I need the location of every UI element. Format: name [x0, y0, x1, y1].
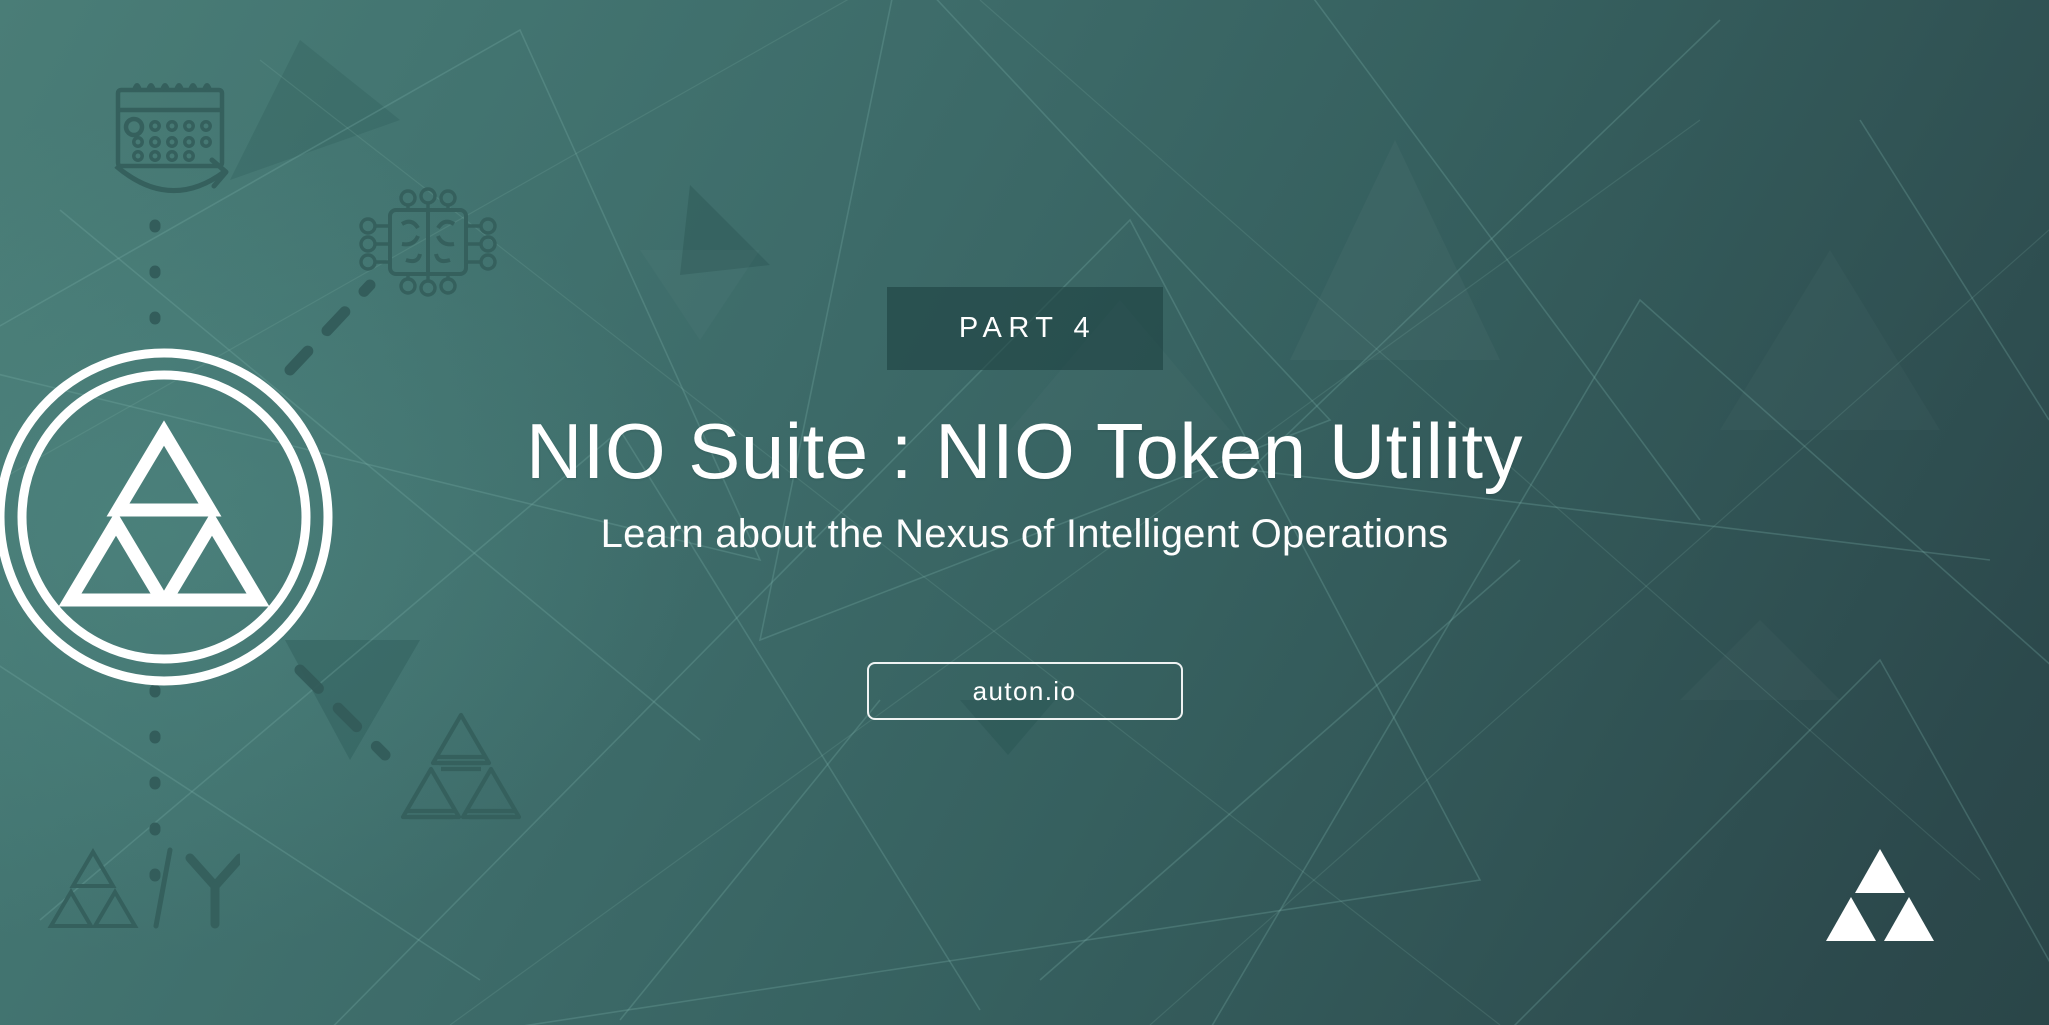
part-badge: PART 4	[887, 287, 1163, 370]
page-title: NIO Suite : NIO Token Utility	[526, 412, 1523, 490]
banner-canvas: PART 4 NIO Suite : NIO Token Utility Lea…	[0, 0, 2049, 1025]
auton-io-button[interactable]: auton.io	[867, 662, 1183, 720]
corner-triforce-logo	[1824, 847, 1936, 942]
auton-io-button-label: auton.io	[973, 676, 1077, 707]
page-subtitle: Learn about the Nexus of Intelligent Ope…	[601, 514, 1449, 554]
banner-content: PART 4 NIO Suite : NIO Token Utility Lea…	[0, 0, 2049, 1025]
part-badge-label: PART 4	[953, 312, 1096, 345]
